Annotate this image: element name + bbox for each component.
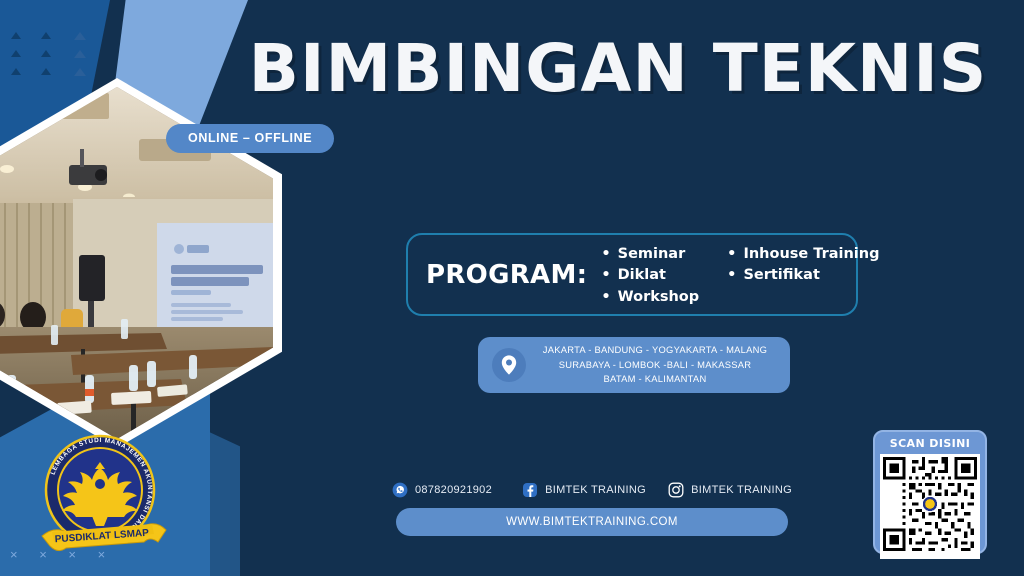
program-item: Diklat [601,265,699,286]
program-box: PROGRAM: Seminar Diklat Workshop Inhouse… [406,233,858,316]
contact-label: BIMTEK TRAINING [691,484,792,496]
program-item: Seminar [601,244,699,265]
contact-label: 087820921902 [415,484,492,496]
program-item: Sertifikat [727,265,879,286]
page-title: BIMBINGAN TEKNIS [248,36,988,102]
badge-online-offline: ONLINE – OFFLINE [166,124,334,153]
location-box: JAKARTA - BANDUNG - YOGYAKARTA - MALANG … [478,337,790,393]
contact-instagram[interactable]: BIMTEK TRAINING [668,482,792,498]
qr-card[interactable]: SCAN DISINI [873,430,987,554]
qr-code-icon [880,454,980,559]
program-label: PROGRAM: [426,260,587,290]
website-bar[interactable]: WWW.BIMTEKTRAINING.COM [396,508,788,536]
whatsapp-icon [392,482,408,498]
location-text: JAKARTA - BANDUNG - YOGYAKARTA - MALANG … [534,343,790,388]
program-column-1: Seminar Diklat Workshop [601,244,699,308]
program-item: Workshop [601,287,699,308]
program-columns: Seminar Diklat Workshop Inhouse Training… [601,242,879,308]
contact-row: 087820921902 BIMTEK TRAINING BIMTEK TRA [392,477,792,503]
contact-label: BIMTEK TRAINING [545,484,646,496]
qr-title: SCAN DISINI [890,437,970,450]
program-item: Inhouse Training [727,244,879,265]
program-column-2: Inhouse Training Sertifikat [727,244,879,308]
instagram-icon [668,482,684,498]
contact-whatsapp[interactable]: 087820921902 [392,482,492,498]
map-pin-icon [492,348,526,382]
poster-canvas: × × × × [0,0,1024,576]
contact-facebook[interactable]: BIMTEK TRAINING [522,482,646,498]
garuda-emblem-icon: LEMBAGA STUDI MANAJEMEN AKUNTANSI DAN PE… [38,432,168,562]
facebook-icon [522,482,538,498]
triangle-dot-grid-icon [10,22,150,82]
